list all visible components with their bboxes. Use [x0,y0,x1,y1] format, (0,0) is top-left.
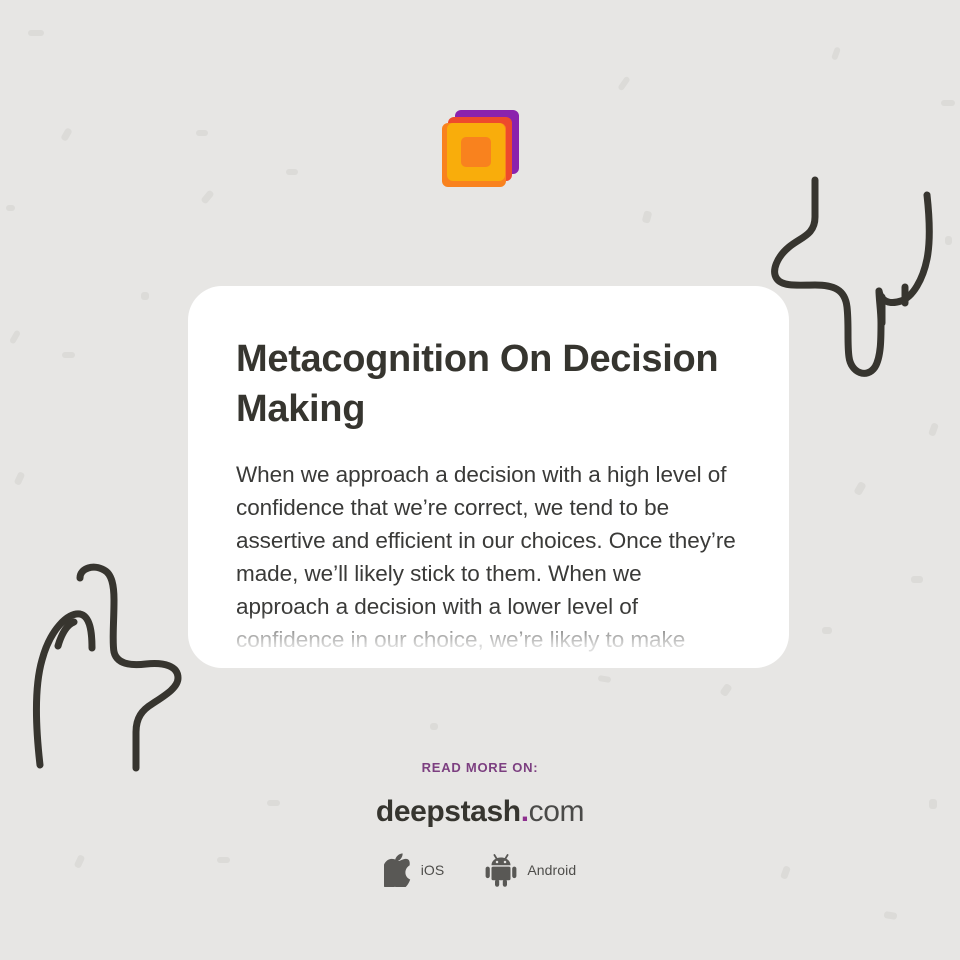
confetti-speck [598,675,612,683]
confetti-speck [911,576,923,583]
confetti-speck [617,76,631,92]
idea-body-container: When we approach a decision with a high … [236,458,741,668]
android-icon [484,853,518,887]
confetti-speck [28,30,44,36]
brand-wordmark[interactable]: deepstash.com [0,797,960,827]
brand-dot: . [521,795,529,828]
confetti-speck [642,210,653,224]
app-store-badge-ios[interactable]: iOS [384,853,445,887]
confetti-speck [719,683,732,697]
confetti-speck [430,723,438,730]
brand-name: deepstash [376,795,521,828]
brand-tld: com [529,795,584,828]
confetti-speck [822,627,832,634]
confetti-speck [883,911,897,920]
play-store-badge-android[interactable]: Android [484,853,576,887]
confetti-speck [928,422,939,437]
idea-title: Metacognition On Decision Making [236,334,741,434]
confetti-speck [62,352,75,358]
idea-card[interactable]: Metacognition On Decision Making When we… [188,286,789,668]
confetti-speck [945,236,952,245]
store-badges: iOS [0,853,960,887]
apple-icon [384,853,412,887]
footer: READ MORE ON: deepstash.com iOS [0,760,960,887]
hand-line-art-top-right [763,175,938,395]
hand-line-art-bottom-left [22,560,202,780]
store-label-android: Android [527,862,576,878]
idea-body-text: When we approach a decision with a high … [236,458,741,656]
confetti-speck [853,481,866,496]
deepstash-logo [0,100,960,200]
read-more-label: READ MORE ON: [0,760,960,775]
confetti-speck [141,292,149,300]
confetti-speck [6,205,15,211]
confetti-speck [14,471,26,486]
confetti-speck [831,46,841,60]
confetti-speck [9,329,21,344]
store-label-ios: iOS [421,862,445,878]
